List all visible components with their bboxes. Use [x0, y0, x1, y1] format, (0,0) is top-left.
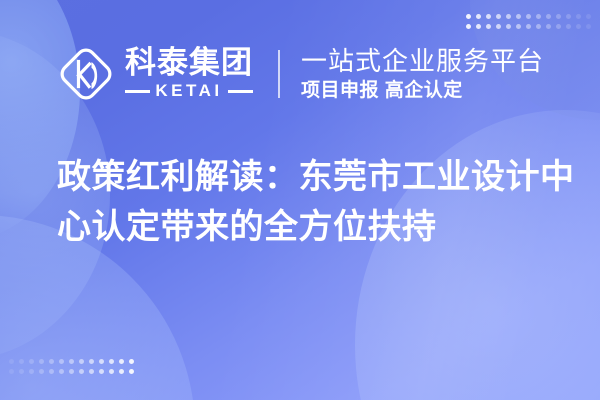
decor-dot [546, 24, 551, 29]
tagline-secondary: 项目申报 高企认定 [301, 80, 544, 101]
decor-dot [49, 369, 54, 374]
headline-block: 政策红利解读：东莞市工业设计中 心认定带来的全方位扶持 [57, 152, 557, 252]
decor-dot [516, 14, 521, 19]
decor-dot [89, 369, 94, 374]
decor-dot [29, 369, 34, 374]
decor-dot-grid-bottom-left [9, 359, 134, 374]
decor-dot [69, 359, 74, 364]
decor-dot [119, 359, 124, 364]
decor-dot [109, 359, 114, 364]
decor-dot [476, 24, 481, 29]
decor-dot [19, 369, 24, 374]
decor-dot [526, 14, 531, 19]
header-divider [278, 50, 280, 98]
decor-dot [39, 369, 44, 374]
decor-dot [536, 24, 541, 29]
decor-dot [109, 369, 114, 374]
decor-dot [129, 359, 134, 364]
decor-dot [576, 24, 581, 29]
decor-dot [9, 369, 14, 374]
decor-dot [476, 14, 481, 19]
decor-dot [566, 24, 571, 29]
brand-wordmark: 科泰集团 KETAI [125, 47, 253, 102]
decor-dot [576, 14, 581, 19]
decor-dot [496, 24, 501, 29]
decor-dot [466, 24, 471, 29]
decor-dot [566, 14, 571, 19]
dot-row [466, 14, 591, 19]
decor-dot [496, 14, 501, 19]
decor-dot [546, 14, 551, 19]
wordmark-rule-right [228, 90, 253, 93]
decor-dot [486, 14, 491, 19]
tagline-block: 一站式企业服务平台 项目申报 高企认定 [301, 47, 544, 101]
brand-name-cn: 科泰集团 [125, 47, 253, 79]
decor-dot-grid-top-right [466, 14, 591, 29]
headline-line-2: 心认定带来的全方位扶持 [57, 202, 557, 252]
decor-dot [49, 359, 54, 364]
brand-logo[interactable]: 科泰集团 KETAI [57, 45, 253, 103]
decor-dot [536, 14, 541, 19]
decor-dot [526, 24, 531, 29]
decor-dot [486, 24, 491, 29]
dot-row [9, 359, 134, 364]
decor-dot [59, 359, 64, 364]
decor-dot [19, 359, 24, 364]
decor-dot [466, 14, 471, 19]
decor-dot [129, 369, 134, 374]
decor-dot [99, 369, 104, 374]
headline-line-1: 政策红利解读：东莞市工业设计中 [57, 152, 557, 202]
decor-dot [99, 359, 104, 364]
decor-dot [59, 369, 64, 374]
tagline-primary: 一站式企业服务平台 [301, 47, 544, 76]
decor-dot [516, 24, 521, 29]
decor-dot [506, 14, 511, 19]
banner-header: 科泰集团 KETAI 一站式企业服务平台 项目申报 高企认定 [57, 42, 544, 106]
decor-dot [9, 359, 14, 364]
dot-row [466, 24, 591, 29]
decor-dot [119, 369, 124, 374]
ketai-kd-diamond-icon [57, 45, 115, 103]
decor-dot [69, 369, 74, 374]
decor-dot [39, 359, 44, 364]
dot-row [9, 369, 134, 374]
promo-banner: 科泰集团 KETAI 一站式企业服务平台 项目申报 高企认定 政策红利解读：东莞… [0, 0, 600, 400]
decor-dot [556, 24, 561, 29]
decor-dot [556, 14, 561, 19]
decor-dot [89, 359, 94, 364]
decor-dot [79, 359, 84, 364]
wordmark-rule-left [125, 90, 150, 93]
decor-dot [586, 14, 591, 19]
decor-dot [586, 24, 591, 29]
brand-name-en: KETAI [155, 81, 222, 101]
decor-dot [506, 24, 511, 29]
decor-dot [79, 369, 84, 374]
decor-dot [29, 359, 34, 364]
brand-name-en-row: KETAI [125, 81, 253, 101]
